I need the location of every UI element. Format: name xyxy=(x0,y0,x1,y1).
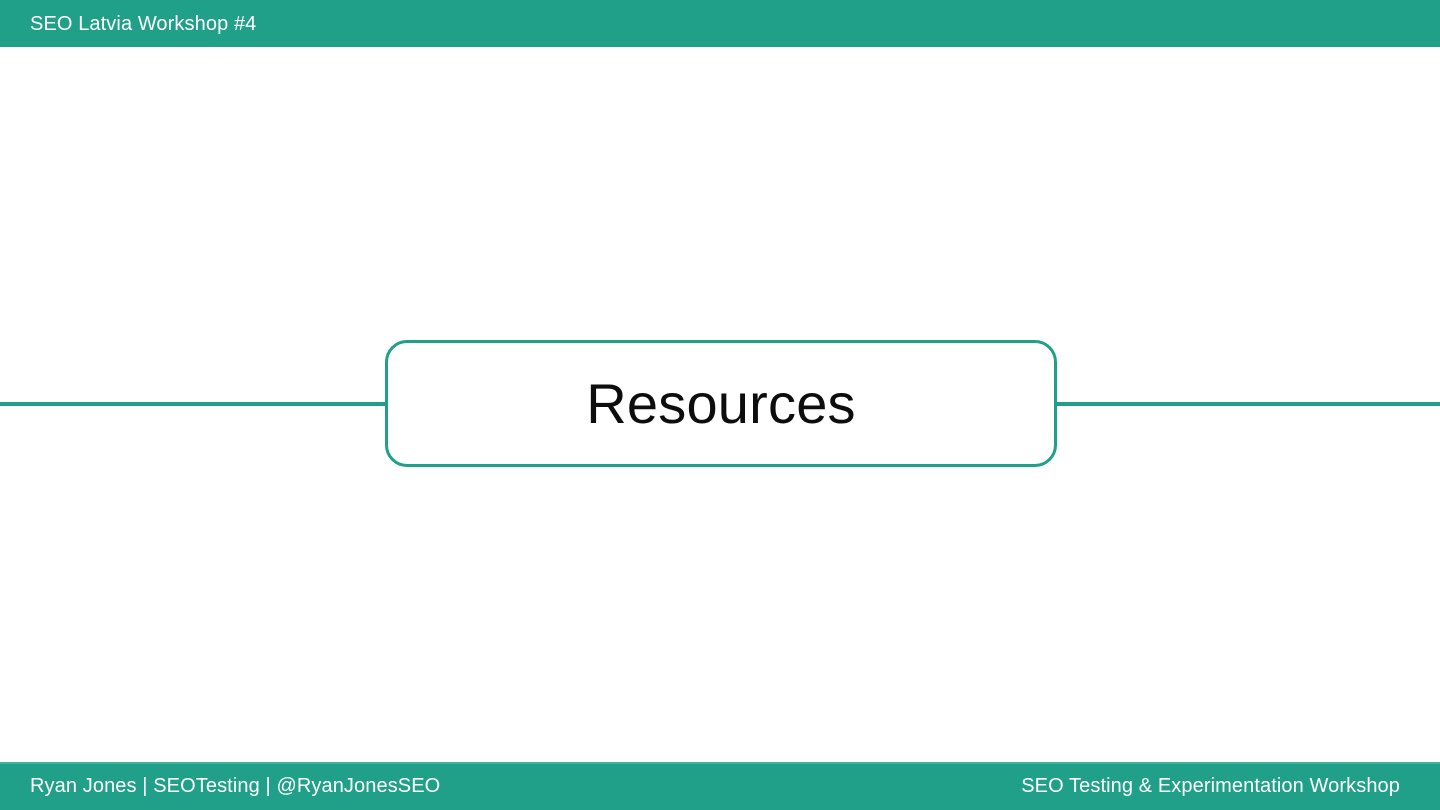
slide-header-title: SEO Latvia Workshop #4 xyxy=(30,14,256,34)
presentation-slide: SEO Latvia Workshop #4 Resources Ryan Jo… xyxy=(0,0,1440,810)
section-title-text: Resources xyxy=(586,374,855,434)
footer-presenter-text: Ryan Jones | SEOTesting | @RyanJonesSEO xyxy=(30,775,440,797)
section-title-box: Resources xyxy=(385,340,1057,467)
slide-header-bar: SEO Latvia Workshop #4 xyxy=(0,0,1440,47)
slide-footer-bar: Ryan Jones | SEOTesting | @RyanJonesSEO … xyxy=(0,762,1440,810)
footer-workshop-text: SEO Testing & Experimentation Workshop xyxy=(1021,775,1400,797)
